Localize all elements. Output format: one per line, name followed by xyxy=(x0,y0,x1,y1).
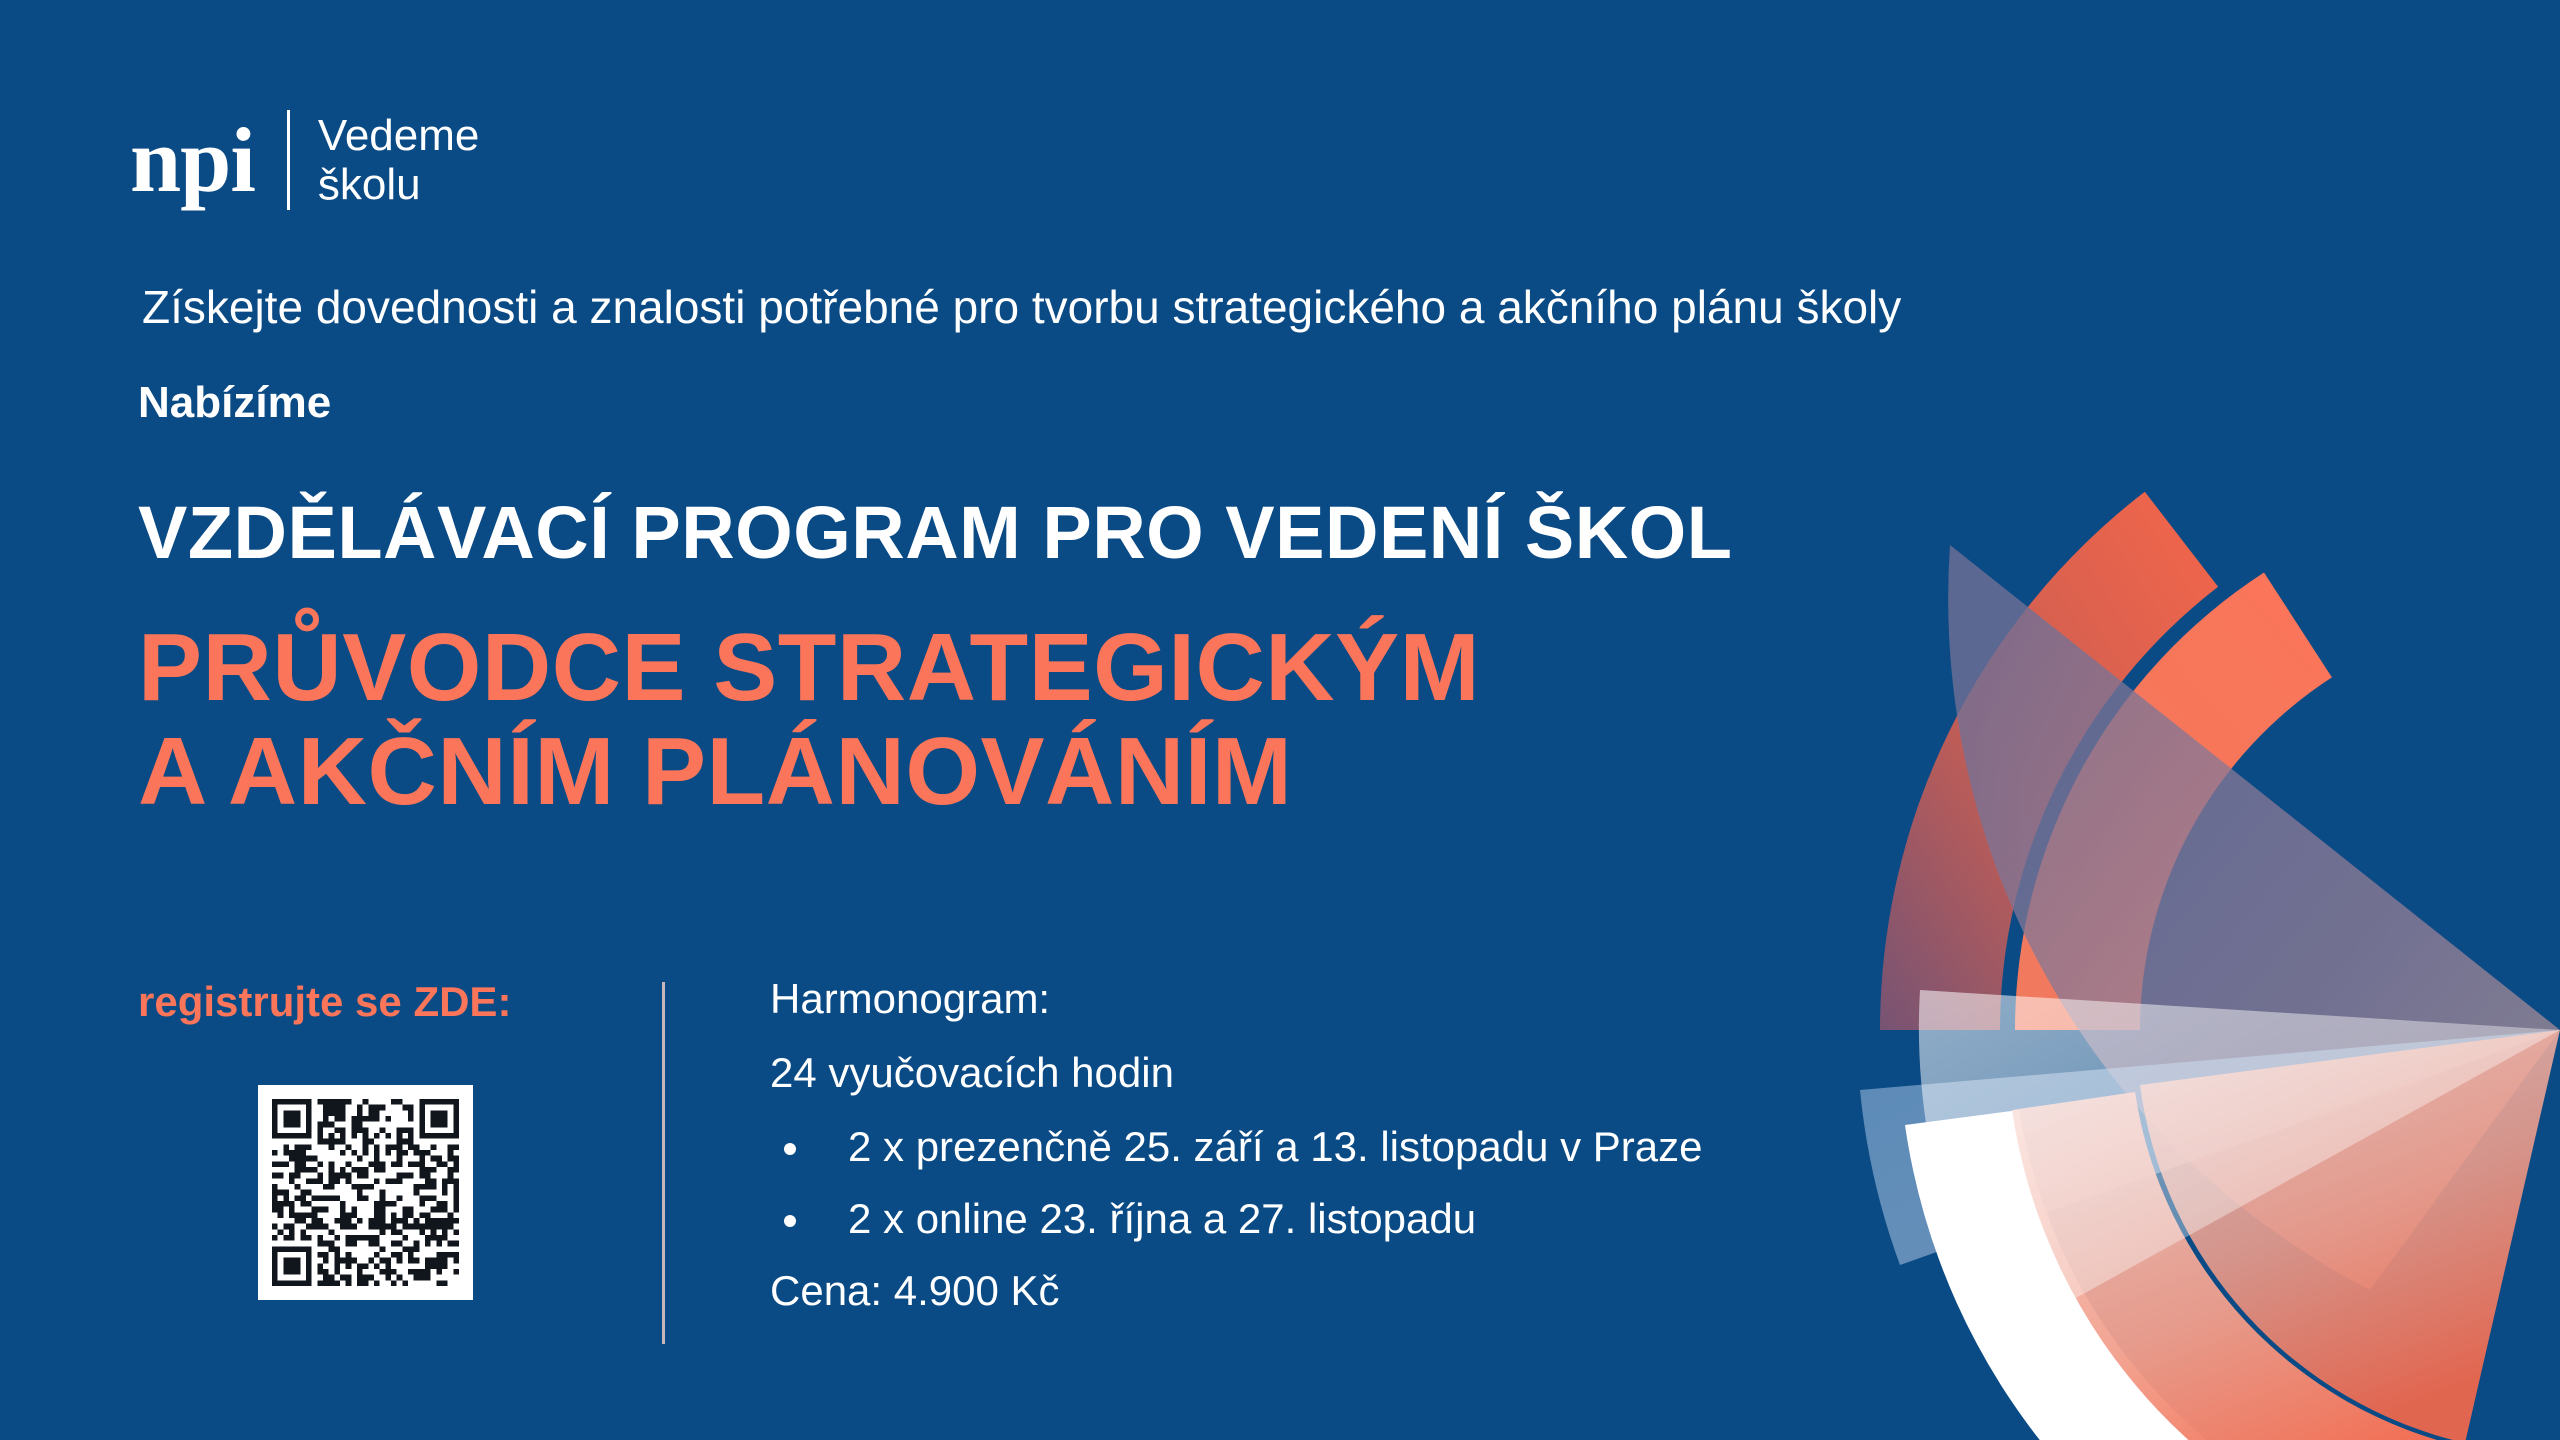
schedule-hours: 24 vyučovacích hodin xyxy=(770,1052,1703,1094)
schedule-heading: Harmonogram: xyxy=(770,978,1703,1020)
bullet-dot-icon xyxy=(784,1143,796,1155)
page-title-line2: A AKČNÍM PLÁNOVÁNÍM xyxy=(138,718,1292,825)
schedule-block: Harmonogram: 24 vyučovacích hodin 2 x pr… xyxy=(770,978,1703,1312)
kicker-text: Získejte dovednosti a znalosti potřebné … xyxy=(142,280,1901,334)
logo-claim: Vedeme školu xyxy=(318,111,479,210)
list-item: 2 x prezenčně 25. září a 13. listopadu v… xyxy=(770,1126,1703,1168)
poster-canvas: npi Vedeme školu Získejte dovednosti a z… xyxy=(0,0,2560,1440)
qr-code-image xyxy=(272,1099,459,1286)
brand-logo: npi Vedeme školu xyxy=(130,100,479,220)
schedule-bullet-list: 2 x prezenčně 25. září a 13. listopadu v… xyxy=(770,1126,1703,1240)
program-subtitle: VZDĚLÁVACÍ PROGRAM PRO VEDENÍ ŠKOL xyxy=(138,490,1732,575)
list-item-label: 2 x online 23. října a 27. listopadu xyxy=(848,1195,1476,1242)
logo-claim-line2: školu xyxy=(318,160,421,209)
list-item: 2 x online 23. října a 27. listopadu xyxy=(770,1198,1703,1240)
bullet-dot-icon xyxy=(784,1215,796,1227)
logo-wordmark: npi xyxy=(130,118,255,203)
logo-claim-line1: Vedeme xyxy=(318,111,479,160)
price-line: Cena: 4.900 Kč xyxy=(770,1270,1703,1312)
list-item-label: 2 x prezenčně 25. září a 13. listopadu v… xyxy=(848,1123,1703,1170)
page-title-line1: PRŮVODCE STRATEGICKÝM xyxy=(138,614,1480,721)
column-divider xyxy=(662,982,665,1344)
qr-code[interactable] xyxy=(258,1085,473,1300)
logo-divider xyxy=(287,110,290,210)
offer-label: Nabízíme xyxy=(138,378,331,428)
register-label: registrujte se ZDE: xyxy=(138,978,511,1026)
page-title: PRŮVODCE STRATEGICKÝM A AKČNÍM PLÁNOVÁNÍ… xyxy=(138,616,1480,823)
